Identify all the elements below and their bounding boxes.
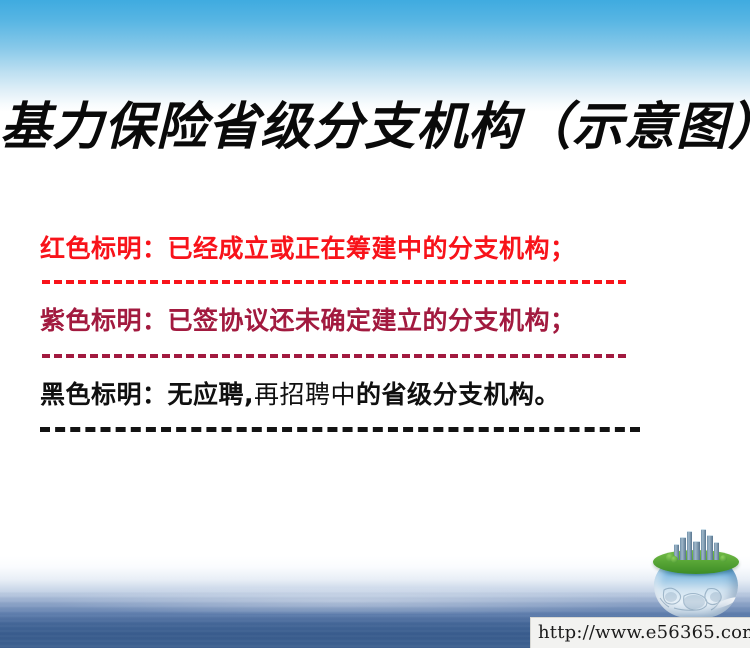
legend-label-purple: 紫色标明：已签协议还未确定建立的分支机构；: [40, 308, 680, 334]
sky-gradient-background: [0, 0, 750, 112]
building-4: [693, 541, 700, 560]
legend-label-red: 红色标明：已经成立或正在筹建中的分支机构；: [40, 236, 680, 262]
city-skyline-icon: [672, 528, 724, 560]
watermark-url: http://www.e56365.com: [538, 622, 750, 643]
building-5: [701, 529, 706, 560]
tree-2: [671, 556, 678, 563]
building-7: [714, 542, 719, 560]
globe-city-logo: [648, 528, 744, 620]
legend-divider-purple: [42, 354, 626, 358]
page-title: 基力保险省级分支机构（示意图）: [0, 98, 750, 157]
building-3: [687, 531, 692, 560]
slide-canvas: 基力保险省级分支机构（示意图） 红色标明：已经成立或正在筹建中的分支机构； 紫色…: [0, 0, 750, 648]
legend-block: 红色标明：已经成立或正在筹建中的分支机构； 紫色标明：已签协议还未确定建立的分支…: [40, 236, 680, 432]
legend-row-purple: 紫色标明：已签协议还未确定建立的分支机构；: [40, 308, 680, 357]
legend-divider-black: [40, 427, 640, 432]
legend-spacer-2: [40, 358, 680, 382]
building-2: [680, 537, 686, 560]
legend-label-black: 黑色标明：无应聘,再招聘中的省级分支机构。: [40, 382, 680, 408]
legend-black-bold-2: 的省级分支机构。: [356, 380, 560, 409]
legend-black-bold-1: 无应聘,: [168, 380, 255, 409]
legend-divider-red: [42, 280, 626, 284]
legend-row-red: 红色标明：已经成立或正在筹建中的分支机构；: [40, 236, 680, 284]
legend-row-black: 黑色标明：无应聘,再招聘中的省级分支机构。: [40, 382, 680, 432]
building-6: [707, 535, 713, 560]
legend-black-light: 再招聘中: [254, 380, 356, 409]
legend-spacer-1: [40, 284, 680, 308]
tree-3: [720, 555, 727, 562]
legend-black-prefix: 黑色标明：: [40, 380, 168, 409]
